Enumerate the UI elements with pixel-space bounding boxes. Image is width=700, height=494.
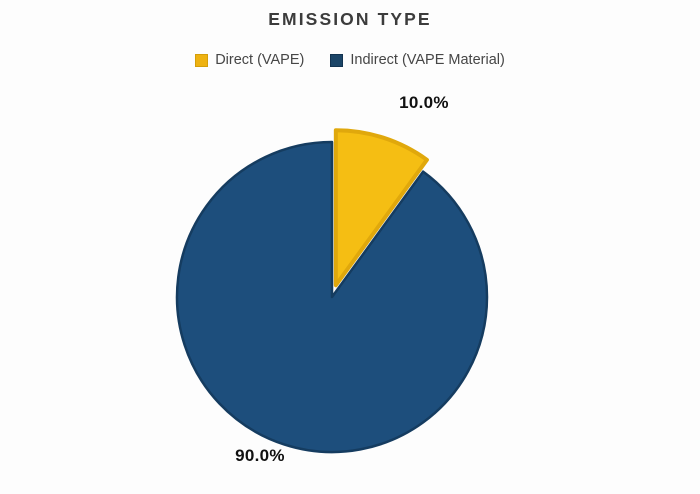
plot-area: 10.0% 90.0% bbox=[0, 0, 700, 494]
data-label-indirect: 90.0% bbox=[210, 446, 310, 466]
data-label-direct: 10.0% bbox=[384, 93, 464, 113]
pie-svg bbox=[0, 0, 700, 494]
pie-slice-indirect[interactable] bbox=[177, 142, 487, 452]
pie-chart-figure: EMISSION TYPE Direct (VAPE) Indirect (VA… bbox=[0, 0, 700, 494]
